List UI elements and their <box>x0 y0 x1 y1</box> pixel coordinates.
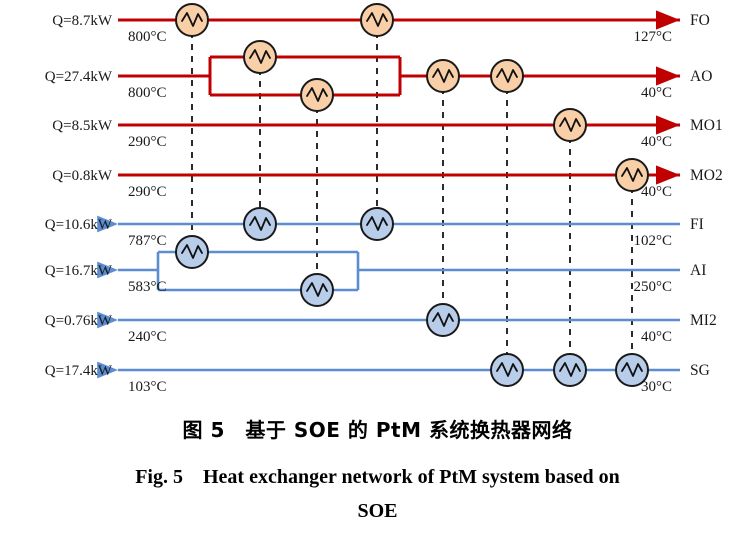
exchanger-AO-bottom-317[interactable] <box>301 79 333 111</box>
exchanger-SG-570[interactable] <box>554 354 586 386</box>
stream-label-MO1: MO1 <box>690 117 723 134</box>
duty-label-SG: Q=17.4kW <box>45 363 113 379</box>
outlet-temp-FO: 127°C <box>633 29 672 45</box>
figure-caption-english-line1: Fig. 5 Heat exchanger network of PtM sys… <box>0 466 755 489</box>
exchanger-circle[interactable] <box>176 4 208 36</box>
outlet-temp-FI: 102°C <box>633 233 672 249</box>
outlet-temp-MO2: 40°C <box>641 184 672 200</box>
exchanger-AO-top-260[interactable] <box>244 41 276 73</box>
figure-caption-chinese: 图 5 基于 SOE 的 PtM 系统换热器网络 <box>0 414 755 443</box>
exchanger-circle[interactable] <box>244 41 276 73</box>
exchanger-circle[interactable] <box>427 60 459 92</box>
exchanger-circle[interactable] <box>301 274 333 306</box>
inlet-temp-FI: 787°C <box>128 233 167 249</box>
inlet-temp-MO2: 290°C <box>128 184 167 200</box>
outlet-temp-SG: 30°C <box>641 379 672 395</box>
duty-label-FI: Q=10.6kW <box>45 217 113 233</box>
exchanger-SG-507[interactable] <box>491 354 523 386</box>
stream-label-MO2: MO2 <box>690 167 723 184</box>
stream-label-SG: SG <box>690 362 710 379</box>
exchanger-AI-top-192[interactable] <box>176 236 208 268</box>
duty-label-MI2: Q=0.76kW <box>45 313 113 329</box>
outlet-temp-AO: 40°C <box>641 85 672 101</box>
hen-diagram: Q=8.7kW800°C127°CFOQ=27.4kW800°C40°CAOQ=… <box>0 0 755 410</box>
exchanger-circle[interactable] <box>361 208 393 240</box>
exchanger-circle[interactable] <box>554 109 586 141</box>
exchanger-FO-192[interactable] <box>176 4 208 36</box>
stream-label-AI: AI <box>690 262 706 279</box>
stream-label-FO: FO <box>690 12 710 29</box>
exchanger-FI-260[interactable] <box>244 208 276 240</box>
inlet-temp-AO: 800°C <box>128 85 167 101</box>
exchanger-circle[interactable] <box>244 208 276 240</box>
figure-caption-english-line2: SOE <box>0 500 755 523</box>
duty-label-MO1: Q=8.5kW <box>52 118 113 134</box>
exchanger-circle[interactable] <box>427 304 459 336</box>
exchanger-circle[interactable] <box>491 60 523 92</box>
exchanger-AI-bottom-317[interactable] <box>301 274 333 306</box>
inlet-temp-AI: 583°C <box>128 279 167 295</box>
diagram-text-group: Q=8.7kW800°C127°CFOQ=27.4kW800°C40°CAOQ=… <box>45 12 723 395</box>
duty-label-AI: Q=16.7kW <box>45 263 113 279</box>
outlet-temp-MI2: 40°C <box>641 329 672 345</box>
stream-lines-group <box>118 20 680 370</box>
exchanger-circle[interactable] <box>176 236 208 268</box>
stream-label-AO: AO <box>690 68 712 85</box>
exchanger-MI2-443[interactable] <box>427 304 459 336</box>
exchanger-FI-377[interactable] <box>361 208 393 240</box>
figure-canvas: Q=8.7kW800°C127°CFOQ=27.4kW800°C40°CAOQ=… <box>0 0 755 550</box>
inlet-temp-MO1: 290°C <box>128 134 167 150</box>
exchanger-AO-507[interactable] <box>491 60 523 92</box>
exchanger-AO-443[interactable] <box>427 60 459 92</box>
duty-label-AO: Q=27.4kW <box>45 69 113 85</box>
stream-label-FI: FI <box>690 216 704 233</box>
outlet-temp-AI: 250°C <box>633 279 672 295</box>
exchanger-FO-377[interactable] <box>361 4 393 36</box>
duty-label-MO2: Q=0.8kW <box>52 168 113 184</box>
stream-label-MI2: MI2 <box>690 312 717 329</box>
exchanger-circle[interactable] <box>554 354 586 386</box>
inlet-temp-MI2: 240°C <box>128 329 167 345</box>
inlet-temp-SG: 103°C <box>128 379 167 395</box>
inlet-temp-FO: 800°C <box>128 29 167 45</box>
exchanger-circle[interactable] <box>491 354 523 386</box>
outlet-temp-MO1: 40°C <box>641 134 672 150</box>
exchanger-circle[interactable] <box>361 4 393 36</box>
duty-label-FO: Q=8.7kW <box>52 13 113 29</box>
exchangers-group <box>176 4 648 386</box>
exchanger-MO1-570[interactable] <box>554 109 586 141</box>
exchanger-circle[interactable] <box>301 79 333 111</box>
